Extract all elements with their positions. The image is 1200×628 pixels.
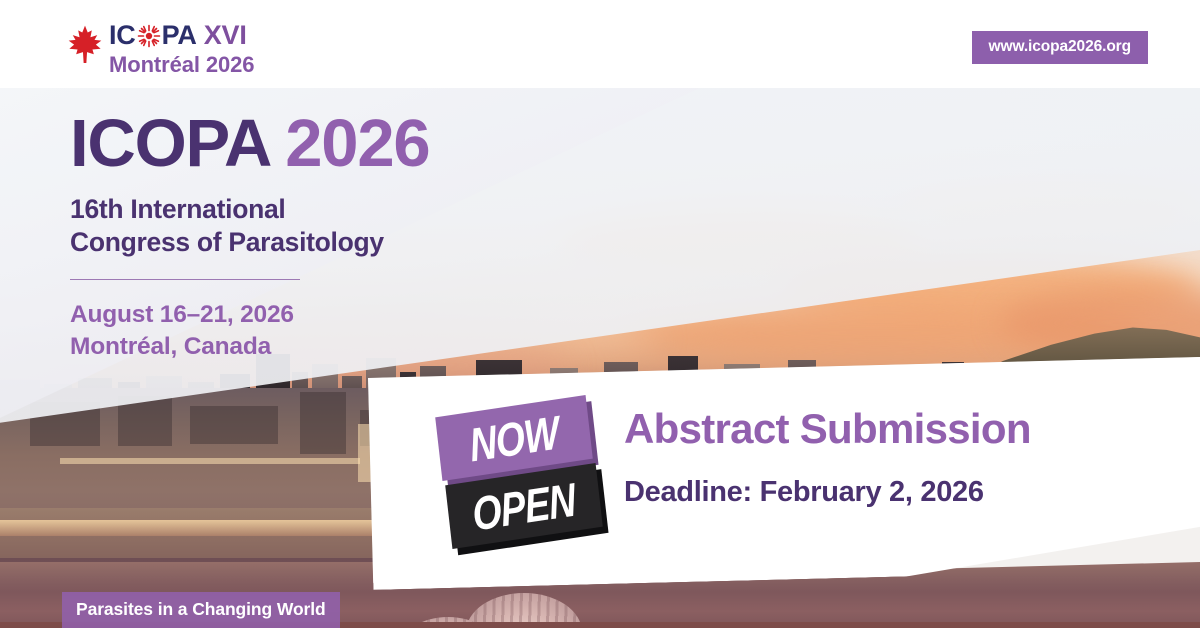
header-bar: IC: [0, 0, 1200, 88]
divider-rule: [70, 279, 300, 281]
title-icopa: ICOPA: [70, 106, 271, 181]
abstract-panel-text: Abstract Submission Deadline: February 2…: [624, 408, 1031, 507]
maple-leaf-icon: [68, 24, 102, 64]
logo-wordmark: IC: [109, 22, 254, 76]
badge-now-label: NOW: [467, 408, 561, 468]
sunburst-icon: [137, 24, 161, 48]
logo-pa-text: PA: [162, 22, 197, 49]
badge-open-label: OPEN: [470, 475, 578, 537]
logo-ic-text: IC: [109, 22, 136, 49]
abstract-submission-heading: Abstract Submission: [624, 408, 1031, 450]
logo-roman-numeral: XVI: [204, 22, 247, 49]
event-date-location: August 16–21, 2026 Montréal, Canada: [70, 299, 429, 362]
icopa-2026-promo-banner: IC: [0, 0, 1200, 628]
title-year: 2026: [285, 106, 429, 181]
abstract-deadline-text: Deadline: February 2, 2026: [624, 478, 1031, 507]
event-dates: August 16–21, 2026: [70, 299, 429, 330]
subtitle-line-2: Congress of Parasitology: [70, 226, 429, 259]
congress-tagline: Parasites in a Changing World: [62, 592, 340, 628]
hero-text-block: ICOPA2026 16th International Congress of…: [70, 110, 429, 362]
now-open-badge[interactable]: NOW OPEN: [432, 404, 612, 554]
logo-primary-line: IC: [109, 22, 254, 49]
congress-subtitle: 16th International Congress of Parasitol…: [70, 193, 429, 260]
logo-city-year: Montréal 2026: [109, 54, 254, 76]
subtitle-line-1: 16th International: [70, 193, 429, 226]
icopa-logo[interactable]: IC: [68, 22, 254, 76]
page-title: ICOPA2026: [70, 110, 429, 177]
event-location: Montréal, Canada: [70, 331, 429, 362]
website-url-badge[interactable]: www.icopa2026.org: [972, 31, 1148, 64]
